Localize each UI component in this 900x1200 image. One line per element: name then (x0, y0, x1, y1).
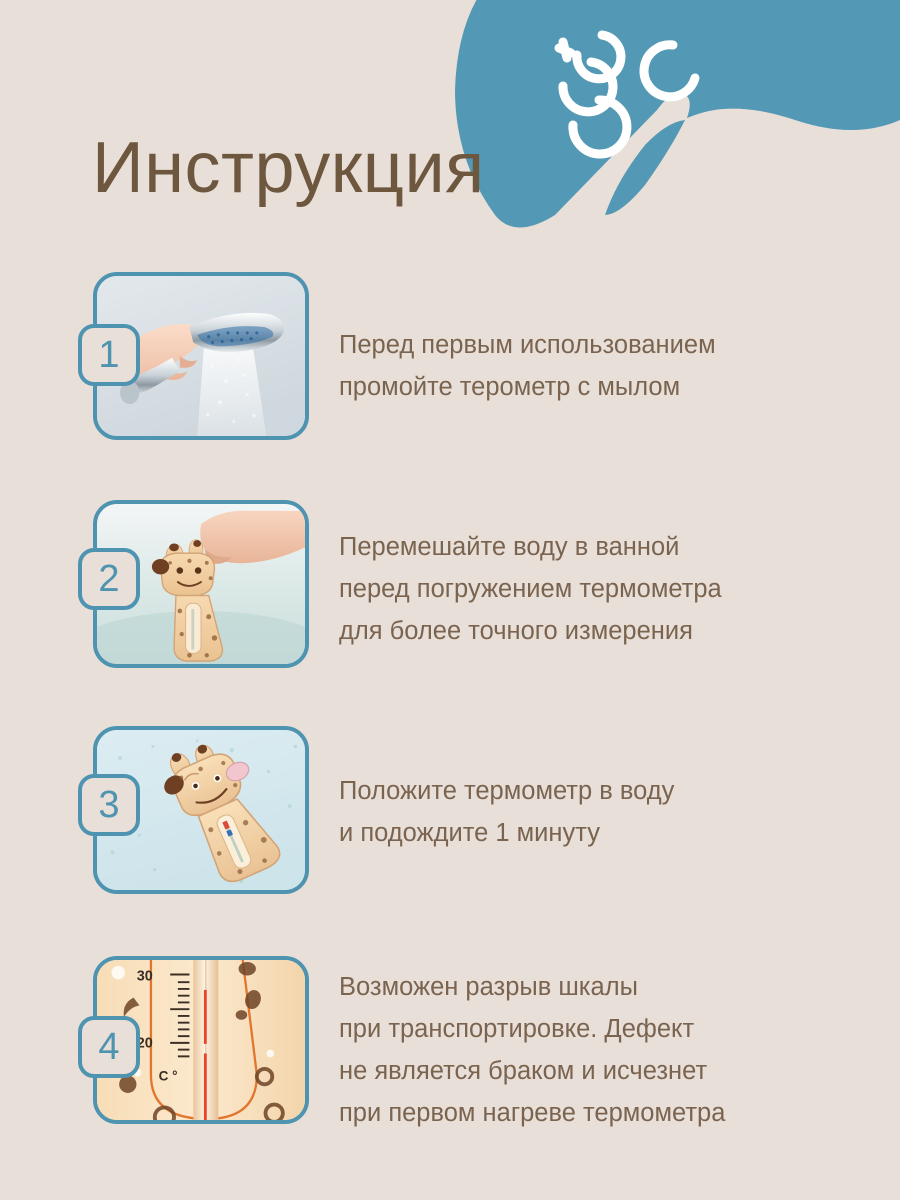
step-4-line-1: Возможен разрыв шкалы (339, 966, 725, 1008)
step-1-badge: 1 (78, 324, 140, 386)
step-1-text: Перед первым использованием промойте тер… (339, 272, 716, 408)
step-item: Положите термометр в воду и подождите 1 … (0, 726, 900, 941)
bubble-arc-2 (577, 35, 621, 79)
step-item: Перед первым использованием промойте тер… (0, 272, 900, 487)
step-3-text: Положите термометр в воду и подождите 1 … (339, 726, 674, 854)
mercury-lower (204, 1053, 207, 1120)
step-2-line-2: перед погружением термометра (339, 568, 722, 610)
step-4-line-4: при первом нагреве термометра (339, 1092, 725, 1134)
step-2-line-3: для более точного измерения (339, 610, 722, 652)
step-1-line-1: Перед первым использованием (339, 324, 716, 366)
bubble-marks (559, 35, 695, 154)
step-4-badge: 4 (78, 1016, 140, 1078)
step-4-number: 4 (98, 1028, 119, 1066)
scale-unit-label: C ° (159, 1068, 178, 1083)
page-title: Инструкция (92, 132, 485, 204)
step-4-line-2: при транспортировке. Дефект (339, 1008, 725, 1050)
mercury-upper (204, 990, 207, 1044)
whale-body-shape (455, 0, 900, 228)
bubble-arc-3 (563, 62, 613, 112)
bubble-spark (559, 42, 571, 58)
step-2-line-1: Перемешайте воду в ванной (339, 526, 722, 568)
step-item: Перемешайте воду в ванной перед погружен… (0, 500, 900, 715)
step-3-line-2: и подождите 1 минуту (339, 812, 674, 854)
step-3-badge: 3 (78, 774, 140, 836)
whale-tail-shape (605, 120, 685, 215)
step-2-number: 2 (98, 560, 119, 598)
step-item: 30 20 C ° (0, 956, 900, 1171)
step-4-text: Возможен разрыв шкалы при транспортировк… (339, 956, 725, 1134)
step-2-text: Перемешайте воду в ванной перед погружен… (339, 500, 722, 652)
scale-label-30: 30 (137, 968, 153, 984)
steps-list: Перед первым использованием промойте тер… (0, 262, 900, 1171)
step-2-badge: 2 (78, 548, 140, 610)
step-3-number: 3 (98, 786, 119, 824)
step-3-line-1: Положите термометр в воду (339, 770, 674, 812)
bubble-arc-1 (644, 45, 695, 97)
bubble-arc-4 (573, 100, 627, 154)
step-1-number: 1 (98, 336, 119, 374)
step-4-line-3: не является браком и исчезнет (339, 1050, 725, 1092)
step-1-line-2: промойте терометр с мылом (339, 366, 716, 408)
